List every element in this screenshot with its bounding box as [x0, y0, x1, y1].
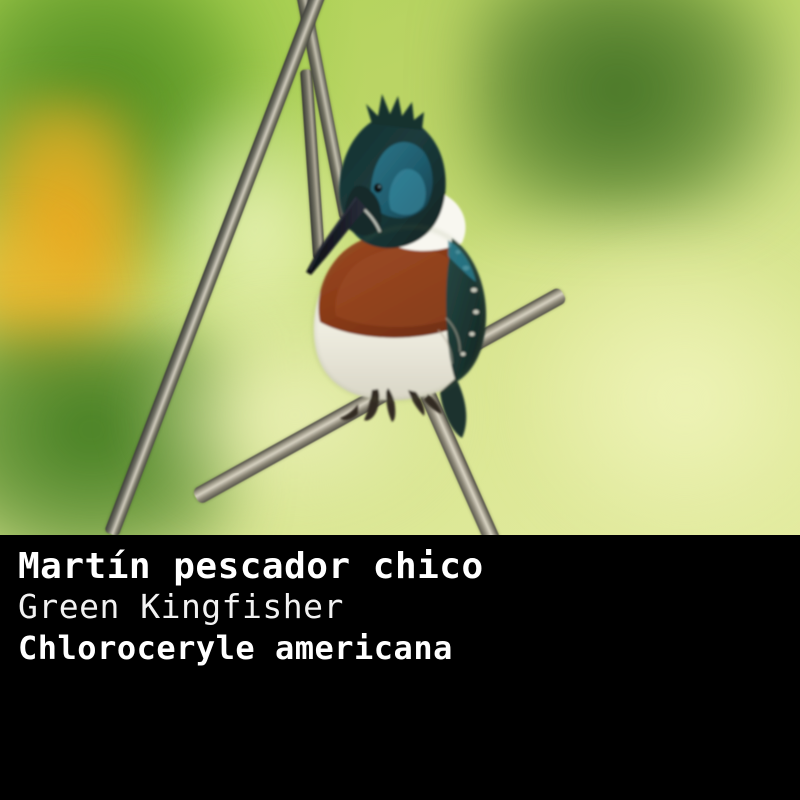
bird-photograph: [0, 0, 800, 535]
species-scientific-name: Chloroceryle americana: [18, 628, 453, 668]
species-common-name: Martín pescador chico: [18, 546, 484, 588]
photo-card: Martín pescador chico Green Kingfisher C…: [0, 0, 800, 800]
caption-bar: Martín pescador chico Green Kingfisher C…: [0, 535, 800, 735]
green-kingfisher-bird: [0, 0, 800, 535]
footer-bar: Martín pescador chico – Chloroceryle ame…: [0, 735, 800, 800]
species-english-name: Green Kingfisher: [18, 587, 344, 627]
